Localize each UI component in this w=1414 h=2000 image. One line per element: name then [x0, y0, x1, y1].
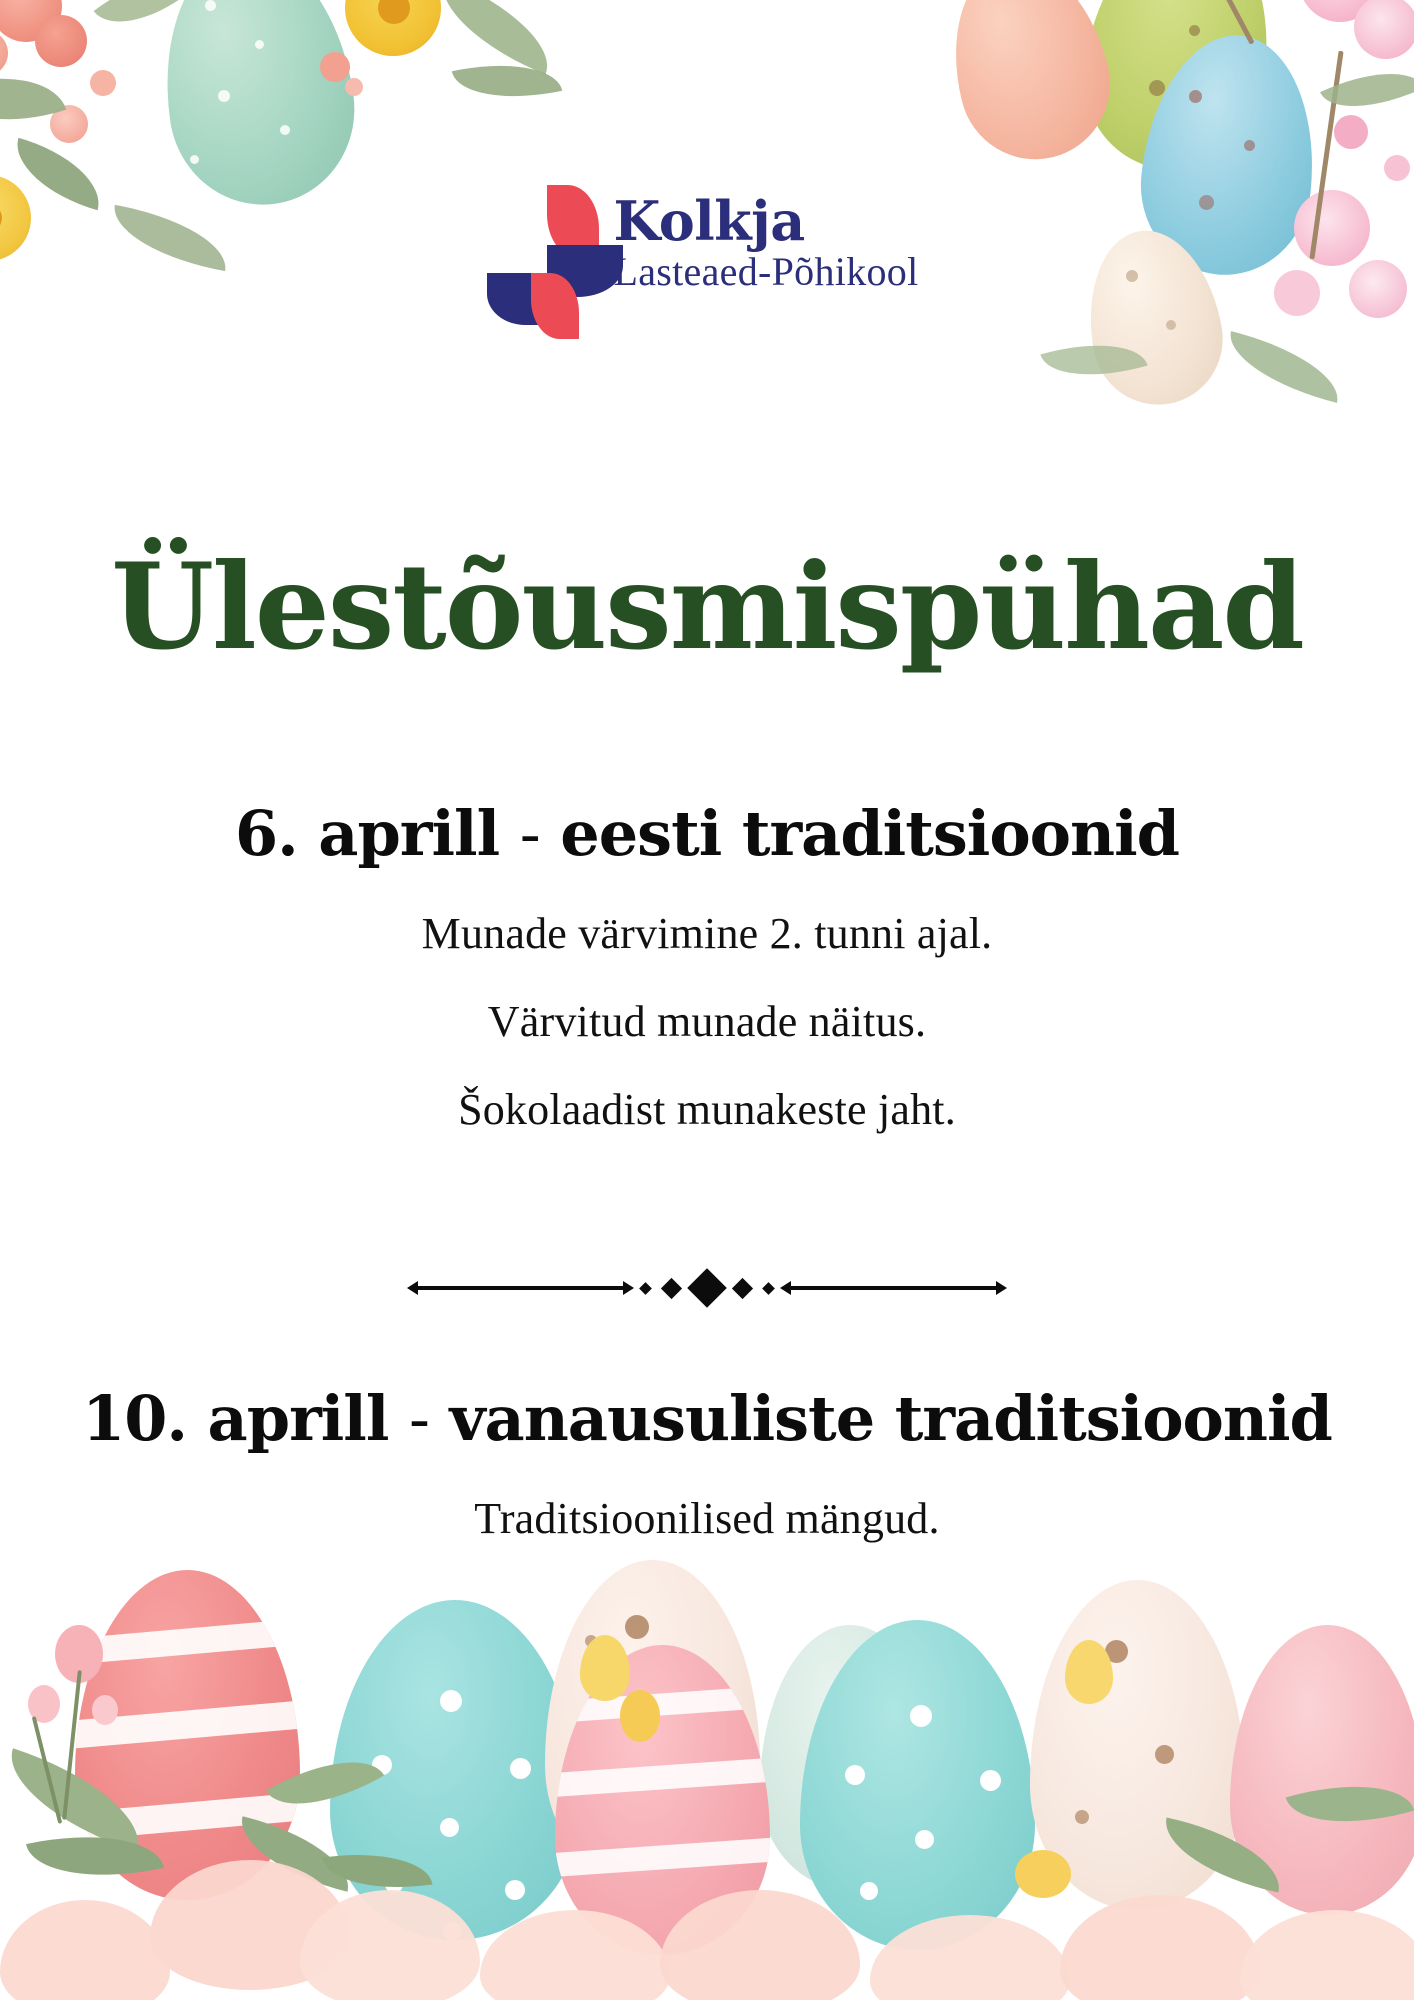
egg-speckle	[218, 90, 230, 102]
teal-dotted-egg-decor	[330, 1600, 580, 1940]
egg-speckle	[1155, 1745, 1174, 1764]
section-1-topic: eesti traditsioonid	[560, 797, 1179, 870]
egg-dot	[845, 1765, 865, 1785]
egg-speckle	[1166, 320, 1176, 330]
peach-blossom-decor	[150, 1860, 350, 1990]
egg-speckle	[1189, 90, 1202, 103]
striped-pink-egg-decor	[555, 1645, 770, 1955]
divider-rule-right	[791, 1286, 996, 1290]
blossom-bud-decor	[1334, 115, 1368, 149]
yellow-flower-decor	[345, 0, 441, 56]
yellow-flower-decor	[580, 1635, 630, 1701]
striped-coral-egg-decor	[75, 1570, 300, 1900]
section-april-10: 10. aprill - vanausuliste traditsioonid …	[0, 1385, 1414, 1541]
section-april-6: 6. aprill - eesti traditsioonid Munade v…	[0, 800, 1414, 1132]
section-1-line-3: Šokolaadist munakeste jaht.	[0, 1088, 1414, 1132]
sage-leaf-decor	[266, 1736, 384, 1831]
sage-leaf-decor	[26, 1817, 164, 1895]
divider-rule-left	[418, 1286, 623, 1290]
pink-egg-decor	[1230, 1625, 1414, 1915]
divider-left-inner-tip-icon	[623, 1281, 634, 1295]
egg-speckle	[255, 40, 264, 49]
bottom-decoration	[0, 1530, 1414, 2000]
egg-speckle	[280, 125, 290, 135]
blossom-bud-decor	[1384, 155, 1410, 181]
pink-flower-decor	[90, 70, 116, 96]
yellow-flower-decor	[1015, 1850, 1071, 1898]
section-2-dash: -	[409, 1382, 429, 1455]
divider-diamond-small-icon	[762, 1282, 775, 1295]
teal-dotted-egg-decor	[800, 1620, 1035, 1950]
pink-bud-decor	[28, 1685, 60, 1723]
pink-bud-decor	[55, 1625, 103, 1683]
egg-speckle	[1189, 25, 1200, 36]
egg-dot	[385, 1875, 403, 1893]
divider-right-inner-tip-icon	[780, 1281, 791, 1295]
egg-speckle	[645, 1770, 658, 1783]
sage-leaf-decor	[1040, 327, 1147, 393]
yellow-flower-decor	[620, 1690, 660, 1742]
sage-leaf-decor	[1220, 331, 1347, 403]
coral-flower-decor	[0, 30, 8, 76]
egg-dot	[505, 1880, 525, 1900]
kolkja-pinwheel-logo-icon	[495, 185, 603, 303]
small-pink-flower-decor	[320, 52, 350, 82]
diamond-ornament-divider	[0, 1268, 1414, 1308]
egg-dot	[440, 1690, 462, 1712]
pink-bud-decor	[92, 1695, 118, 1725]
divider-left-tip-icon	[407, 1281, 418, 1295]
sage-leaf-decor	[961, 0, 1077, 11]
sage-leaf-decor	[425, 0, 565, 74]
egg-dot	[910, 1705, 932, 1727]
pink-flower-decor	[50, 105, 88, 143]
divider-diamond-large-icon	[687, 1268, 727, 1308]
blossom-flower-decor	[1354, 0, 1414, 59]
section-2-heading: 10. aprill - vanausuliste traditsioonid	[0, 1385, 1414, 1453]
divider-right-tip-icon	[996, 1281, 1007, 1295]
school-logo: Kolkja Lasteaed-Põhikool	[0, 185, 1414, 303]
small-pink-flower-decor	[345, 78, 363, 96]
sage-leaf-decor	[452, 50, 562, 113]
sage-leaf-decor	[323, 1843, 433, 1899]
peach-blossom-decor	[1060, 1895, 1260, 2000]
peach-blossom-decor	[660, 1890, 860, 2000]
peach-blossom-decor	[870, 1915, 1070, 2000]
divider-diamond-small-icon	[639, 1282, 652, 1295]
peach-blossom-decor	[0, 1900, 170, 2000]
logo-school-name: Kolkja	[613, 189, 804, 253]
sage-leaf-decor	[231, 1816, 359, 1892]
section-2-line-1: Traditsioonilised mängud.	[0, 1497, 1414, 1541]
egg-speckle	[1105, 1640, 1128, 1663]
section-2-topic: vanausuliste traditsioonid	[450, 1382, 1332, 1455]
sage-leaf-decor	[94, 0, 189, 46]
egg-speckle	[205, 0, 216, 11]
coral-flower-decor	[35, 15, 87, 67]
cream-speckled-egg-decor	[1030, 1580, 1245, 1910]
branch-stem-decor	[32, 1716, 62, 1824]
egg-dot	[372, 1755, 392, 1775]
logo-text-block: Kolkja Lasteaed-Põhikool	[613, 193, 918, 296]
section-1-heading: 6. aprill - eesti traditsioonid	[0, 800, 1414, 868]
coral-flower-decor	[0, 0, 62, 42]
egg-speckle	[660, 1720, 680, 1740]
egg-speckle	[1244, 140, 1255, 151]
egg-dot	[915, 1830, 934, 1849]
peach-egg-decor	[932, 0, 1126, 175]
egg-dot	[443, 1922, 461, 1940]
egg-dot	[440, 1818, 459, 1837]
section-1-line-2: Värvitud munade näitus.	[0, 1000, 1414, 1044]
pale-mint-egg-decor	[760, 1625, 940, 1890]
page-title: Ülestõusmispühad	[0, 548, 1414, 666]
sage-leaf-decor	[0, 1748, 156, 1851]
easter-event-poster: Kolkja Lasteaed-Põhikool Ülestõusmispüha…	[0, 0, 1414, 2000]
peach-blossom-decor	[1240, 1910, 1414, 2000]
yellow-flower-decor	[1065, 1640, 1113, 1704]
egg-speckle	[1214, 90, 1224, 100]
branch-stem-decor	[1198, 0, 1254, 45]
logo-school-subtitle: Lasteaed-Põhikool	[613, 249, 918, 294]
yellow-flower-center	[378, 0, 410, 24]
divider-diamond-medium-icon	[732, 1277, 753, 1298]
section-2-date: 10. aprill	[82, 1382, 388, 1455]
egg-speckle	[190, 155, 199, 164]
cream-speckled-egg-decor	[545, 1560, 760, 1890]
egg-speckle	[625, 1615, 649, 1639]
divider-diamond-medium-icon	[661, 1277, 682, 1298]
egg-dot	[860, 1882, 878, 1900]
sage-leaf-decor	[1286, 1764, 1414, 1843]
egg-speckle	[1149, 80, 1165, 96]
green-speckled-egg-decor	[1069, 0, 1290, 184]
blossom-flower-decor	[1299, 0, 1381, 22]
section-1-dash: -	[520, 797, 540, 870]
peach-blossom-decor	[480, 1910, 670, 2000]
egg-speckle	[585, 1635, 597, 1647]
egg-dot	[510, 1758, 531, 1779]
section-1-line-1: Munade värvimine 2. tunni ajal.	[0, 912, 1414, 956]
egg-dot	[980, 1770, 1001, 1791]
sage-leaf-decor	[1320, 52, 1414, 129]
branch-stem-decor	[62, 1670, 82, 1820]
egg-speckle	[1075, 1810, 1089, 1824]
sage-leaf-decor	[1156, 1818, 1289, 1893]
peach-blossom-decor	[300, 1890, 480, 2000]
section-1-date: 6. aprill	[235, 797, 499, 870]
sage-leaf-decor	[0, 54, 66, 143]
